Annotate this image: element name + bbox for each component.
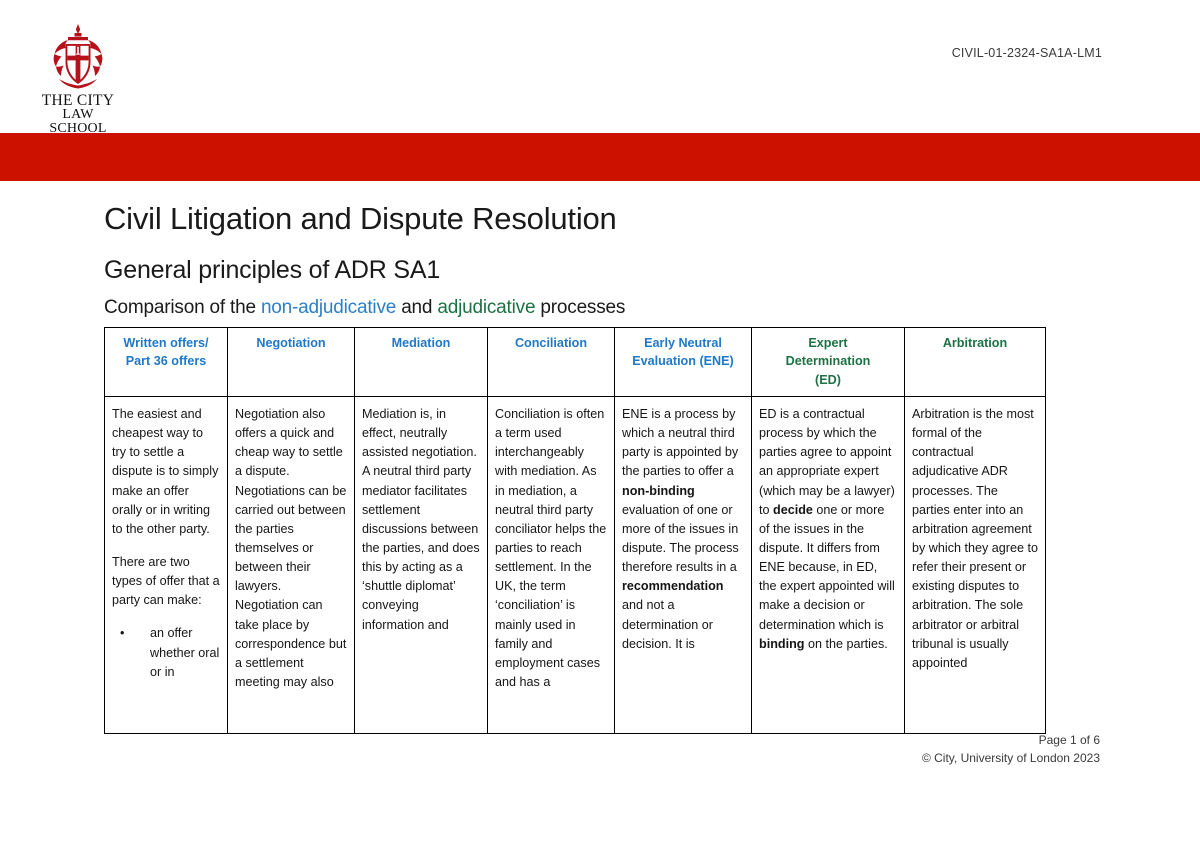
cell-paragraph: Negotiation also offers a quick and chea…	[235, 405, 347, 692]
cell-bold-recommendation: recommendation	[622, 579, 723, 593]
cell-text-a: ED is a contractual process by which the…	[759, 407, 895, 517]
page-number: Page 1 of 6	[922, 731, 1100, 749]
document-page: THE CITY LAW SCHOOL CITY, UNIVERSITY OF …	[0, 0, 1200, 849]
cell-conciliation: Conciliation is often a term used interc…	[488, 397, 615, 734]
cell-text-c: and not a determination or decision. It …	[622, 598, 713, 650]
column-header-negotiation: Negotiation	[228, 328, 355, 397]
page-subtitle: General principles of ADR SA1	[104, 256, 440, 285]
cell-paragraph: ENE is a process by which a neutral thir…	[622, 405, 744, 654]
cell-negotiation: Negotiation also offers a quick and chea…	[228, 397, 355, 734]
cell-bold-decide: decide	[773, 503, 813, 517]
column-header-line-1: Expert	[808, 336, 847, 350]
red-banner-bar	[0, 133, 1200, 181]
cell-text-c: on the parties.	[804, 637, 887, 651]
caption-adjudicative: adjudicative	[437, 297, 535, 318]
cell-arbitration: Arbitration is the most formal of the co…	[905, 397, 1046, 734]
column-header-line-1: Written offers/	[123, 336, 208, 350]
column-header-expert-determination: Expert Determination (ED)	[752, 328, 905, 397]
cell-paragraph: Arbitration is the most formal of the co…	[912, 405, 1038, 673]
cell-early-neutral-evaluation: ENE is a process by which a neutral thir…	[615, 397, 752, 734]
column-header-line-1: Negotiation	[256, 336, 325, 350]
cell-written-offers: The easiest and cheapest way to try to s…	[105, 397, 228, 734]
adr-comparison-table: Written offers/ Part 36 offers Negotiati…	[104, 327, 1046, 734]
cell-bold-binding: binding	[759, 637, 804, 651]
cell-text-b: one or more of the issues in the dispute…	[759, 503, 895, 632]
table-header-row: Written offers/ Part 36 offers Negotiati…	[105, 328, 1046, 397]
page-footer: Page 1 of 6 © City, University of London…	[922, 731, 1100, 767]
page-title: Civil Litigation and Dispute Resolution	[104, 201, 617, 237]
caption-text-1: Comparison of the	[104, 297, 261, 318]
crest-icon	[41, 22, 115, 92]
caption-text-3: processes	[535, 297, 625, 318]
cell-paragraph: ED is a contractual process by which the…	[759, 405, 897, 654]
column-header-line-2: Part 36 offers	[126, 354, 207, 368]
column-header-line-1: Early Neutral	[644, 336, 722, 350]
column-header-written-offers: Written offers/ Part 36 offers	[105, 328, 228, 397]
cell-paragraph: Conciliation is often a term used interc…	[495, 405, 607, 692]
column-header-conciliation: Conciliation	[488, 328, 615, 397]
cell-mediation: Mediation is, in effect, neutrally assis…	[355, 397, 488, 734]
logo-line-2: LAW SCHOOL	[36, 108, 120, 136]
cell-paragraph: The easiest and cheapest way to try to s…	[112, 405, 220, 539]
city-law-school-logo: THE CITY LAW SCHOOL CITY, UNIVERSITY OF …	[36, 22, 120, 130]
page-caption: Comparison of the non-adjudicative and a…	[104, 297, 625, 319]
column-header-line-2: Determination	[786, 354, 871, 368]
column-header-line-1: Arbitration	[943, 336, 1007, 350]
cell-text-b: evaluation of one or more of the issues …	[622, 503, 739, 574]
bullet-icon: •	[120, 624, 124, 643]
column-header-early-neutral-evaluation: Early Neutral Evaluation (ENE)	[615, 328, 752, 397]
cell-expert-determination: ED is a contractual process by which the…	[752, 397, 905, 734]
column-header-line-3: (ED)	[815, 373, 841, 387]
table-row: The easiest and cheapest way to try to s…	[105, 397, 1046, 734]
column-header-line-1: Conciliation	[515, 336, 587, 350]
column-header-mediation: Mediation	[355, 328, 488, 397]
column-header-line-1: Mediation	[392, 336, 451, 350]
caption-text-2: and	[396, 297, 437, 318]
copyright-notice: © City, University of London 2023	[922, 749, 1100, 767]
caption-nonadjudicative: non-adjudicative	[261, 297, 396, 318]
cell-text-a: ENE is a process by which a neutral thir…	[622, 407, 738, 478]
cell-paragraph: Mediation is, in effect, neutrally assis…	[362, 405, 480, 635]
cell-paragraph: There are two types of offer that a part…	[112, 553, 220, 610]
document-code: CIVIL-01-2324-SA1A-LM1	[952, 46, 1102, 60]
list-item-label: an offer whether oral or in	[150, 626, 219, 678]
column-header-line-2: Evaluation (ENE)	[632, 354, 733, 368]
list-item: •an offer whether oral or in	[112, 624, 220, 681]
column-header-arbitration: Arbitration	[905, 328, 1046, 397]
cell-bold-non-binding: non-binding	[622, 484, 695, 498]
cell-bullet-list: •an offer whether oral or in	[112, 624, 220, 681]
